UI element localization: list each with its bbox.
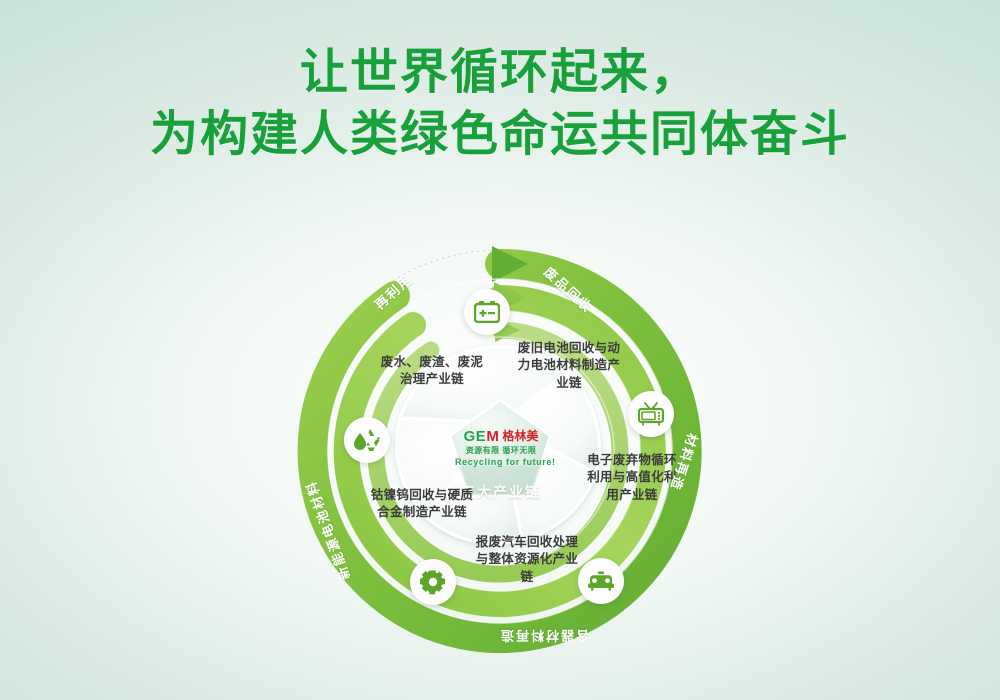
poster-canvas: 让世界循环起来， 为构建人类绿色命运共同体奋斗 — [0, 0, 1000, 700]
headline-line-1: 让世界循环起来， — [0, 42, 1000, 104]
television-icon — [638, 402, 664, 426]
chain-text-ewaste: 电子废弃物循环利用与高值化利用产业链 — [583, 452, 681, 504]
chain-text-battery: 废旧电池回收与动力电池材料制造产业链 — [513, 340, 625, 392]
headline-line-2: 为构建人类绿色命运共同体奋斗 — [0, 104, 1000, 166]
ring-label-equipment: 含器材料再造 — [499, 627, 589, 646]
battery-icon-bubble[interactable] — [464, 289, 510, 335]
recycle-water-icon-bubble[interactable] — [344, 417, 390, 463]
battery-icon — [474, 301, 500, 323]
gear-icon — [420, 569, 446, 595]
television-icon-bubble[interactable] — [628, 391, 674, 437]
chain-text-water: 废水、废渣、废泥治理产业链 — [378, 354, 486, 389]
car-icon — [587, 571, 615, 591]
recycle-water-icon — [353, 427, 381, 453]
page-title: 让世界循环起来， 为构建人类绿色命运共同体奋斗 — [0, 42, 1000, 167]
chain-text-alloy: 钴镍钨回收与硬质合金制造产业链 — [368, 487, 476, 522]
gear-icon-bubble[interactable] — [410, 559, 456, 605]
car-icon-bubble[interactable] — [578, 558, 624, 604]
chain-text-car: 报废汽车回收处理与整体资源化产业链 — [472, 534, 582, 586]
